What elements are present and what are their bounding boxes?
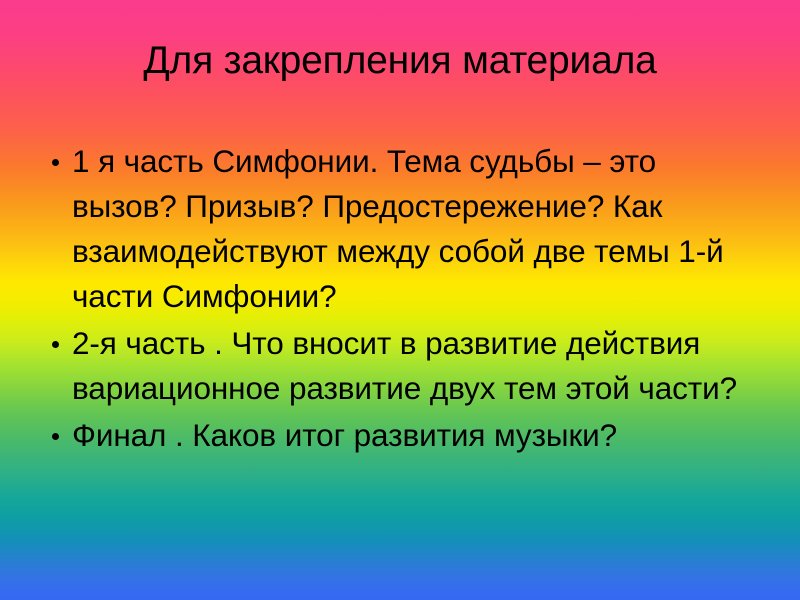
bullet-list: 1 я часть Симфонии. Тема судьбы – это вы… <box>44 139 756 458</box>
bullet-item-text: 1 я часть Симфонии. Тема судьбы – это вы… <box>72 139 756 319</box>
list-item: Финал . Каков итог развития музыки? <box>44 413 756 458</box>
bullet-dot-icon <box>52 341 59 348</box>
bullet-dot-icon <box>52 433 59 440</box>
list-item: 2-я часть . Что вносит в развитие действ… <box>44 321 756 411</box>
bullet-item-text: Финал . Каков итог развития музыки? <box>72 413 756 458</box>
list-item: 1 я часть Симфонии. Тема судьбы – это вы… <box>44 139 756 319</box>
presentation-slide: Для закрепления материала 1 я часть Симф… <box>0 0 800 600</box>
bullet-item-text: 2-я часть . Что вносит в развитие действ… <box>72 321 756 411</box>
slide-body: 1 я часть Симфонии. Тема судьбы – это вы… <box>44 139 756 460</box>
slide-title: Для закрепления материала <box>40 38 760 84</box>
slide-title-text: Для закрепления материала <box>40 38 760 84</box>
bullet-dot-icon <box>52 159 59 166</box>
